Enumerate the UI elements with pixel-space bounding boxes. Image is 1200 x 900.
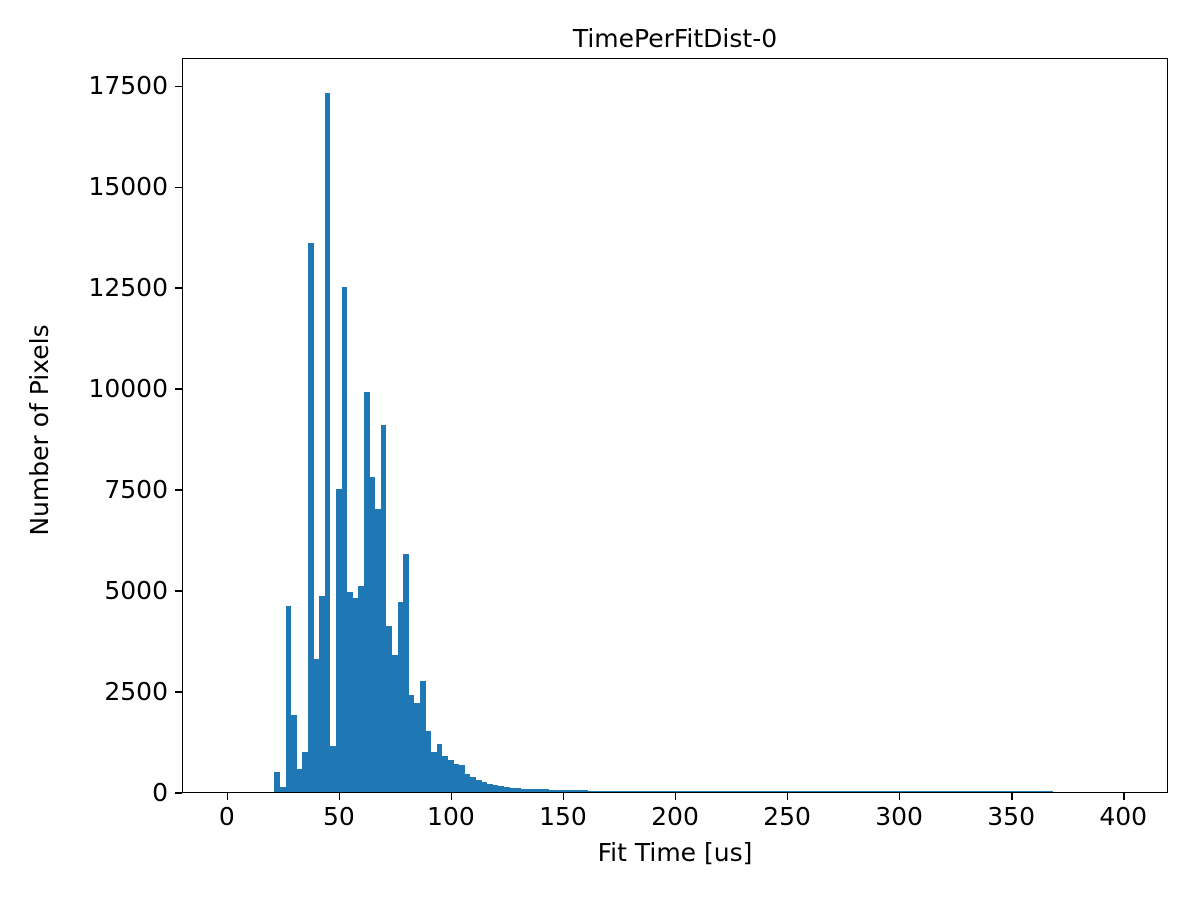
y-axis-label: Number of Pixels	[25, 280, 55, 580]
y-tick-mark	[175, 590, 182, 591]
y-tick-mark	[175, 691, 182, 692]
histogram-bars	[183, 59, 1167, 792]
x-tick-label: 100	[427, 802, 475, 832]
y-tick-mark	[175, 792, 182, 793]
y-tick-label: 15000	[88, 172, 168, 202]
matplotlib-figure: TimePerFitDist-0 05010015020025030035040…	[0, 0, 1200, 900]
y-tick-mark	[175, 388, 182, 389]
x-tick-mark	[1123, 793, 1124, 800]
x-axis-label: Fit Time [us]	[182, 838, 1168, 868]
x-tick-label: 350	[987, 802, 1035, 832]
x-tick-label: 250	[763, 802, 811, 832]
y-tick-mark	[175, 287, 182, 288]
chart-title: TimePerFitDist-0	[182, 24, 1168, 54]
x-tick-mark	[563, 793, 564, 800]
x-tick-mark	[451, 793, 452, 800]
y-tick-mark	[175, 489, 182, 490]
x-tick-label: 400	[1099, 802, 1147, 832]
x-tick-mark	[787, 793, 788, 800]
y-tick-label: 2500	[104, 677, 168, 707]
y-tick-mark	[175, 187, 182, 188]
x-tick-label: 200	[651, 802, 699, 832]
x-tick-label: 0	[219, 802, 235, 832]
histogram-bar	[325, 93, 331, 792]
x-tick-mark	[899, 793, 900, 800]
y-tick-label: 5000	[104, 576, 168, 606]
y-tick-label: 17500	[88, 71, 168, 101]
y-tick-label: 0	[152, 778, 168, 808]
x-tick-mark	[1011, 793, 1012, 800]
y-tick-label: 12500	[88, 273, 168, 303]
x-tick-mark	[339, 793, 340, 800]
x-tick-label: 150	[539, 802, 587, 832]
x-tick-mark	[675, 793, 676, 800]
x-tick-label: 300	[875, 802, 923, 832]
histogram-bar	[1047, 791, 1053, 792]
y-tick-mark	[175, 86, 182, 87]
x-tick-mark	[227, 793, 228, 800]
x-tick-label: 50	[323, 802, 355, 832]
y-tick-label: 7500	[104, 475, 168, 505]
plot-axes-area	[182, 58, 1168, 793]
y-tick-label: 10000	[88, 374, 168, 404]
